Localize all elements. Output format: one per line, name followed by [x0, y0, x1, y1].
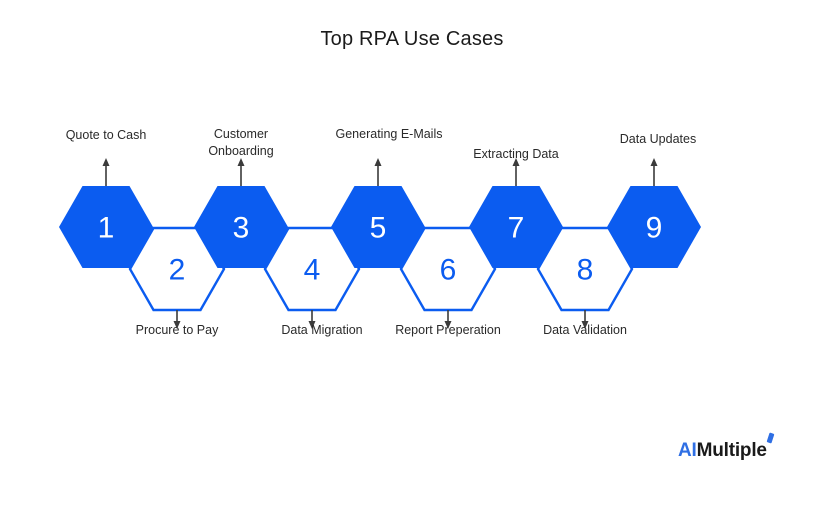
hexagon-label-5: Generating E-Mails — [336, 126, 443, 143]
arrow-head — [375, 158, 382, 166]
hexagon-number-4: 4 — [304, 254, 321, 287]
hexagon-label-2: Procure to Pay — [136, 322, 219, 339]
hexagon-number-1: 1 — [98, 212, 115, 245]
arrow-head — [651, 158, 658, 166]
hexagon-number-6: 6 — [440, 254, 457, 287]
hexagon-number-9: 9 — [646, 212, 663, 245]
infographic-canvas: Top RPA Use Cases 246813579 Quote to Cas… — [0, 0, 824, 527]
hexagon-number-3: 3 — [233, 212, 250, 245]
hexagon-label-3: Customer Onboarding — [208, 126, 273, 160]
hexagon-label-7: Extracting Data — [473, 146, 558, 163]
arrow-head — [103, 158, 110, 166]
hexagon-number-8: 8 — [577, 254, 594, 287]
hexagon-label-8: Data Validation — [543, 322, 627, 339]
brand-logo[interactable]: AIMultiple — [678, 440, 772, 462]
arrow-up-5 — [375, 158, 382, 186]
hexagon-label-9: Data Updates — [620, 131, 696, 148]
hexagon-label-6: Report Preperation — [395, 322, 501, 339]
arrow-up-1 — [103, 158, 110, 186]
hexagon-number-5: 5 — [370, 212, 387, 245]
hexagon-label-4: Data Migration — [281, 322, 362, 339]
hexagon-number-7: 7 — [508, 212, 525, 245]
hexagon-number-2: 2 — [169, 254, 186, 287]
brand-logo-prefix: AI — [678, 440, 697, 461]
arrow-up-9 — [651, 158, 658, 186]
hexagon-label-1: Quote to Cash — [66, 127, 147, 144]
brand-logo-suffix: Multiple — [697, 440, 767, 461]
arrow-up-3 — [238, 158, 245, 186]
